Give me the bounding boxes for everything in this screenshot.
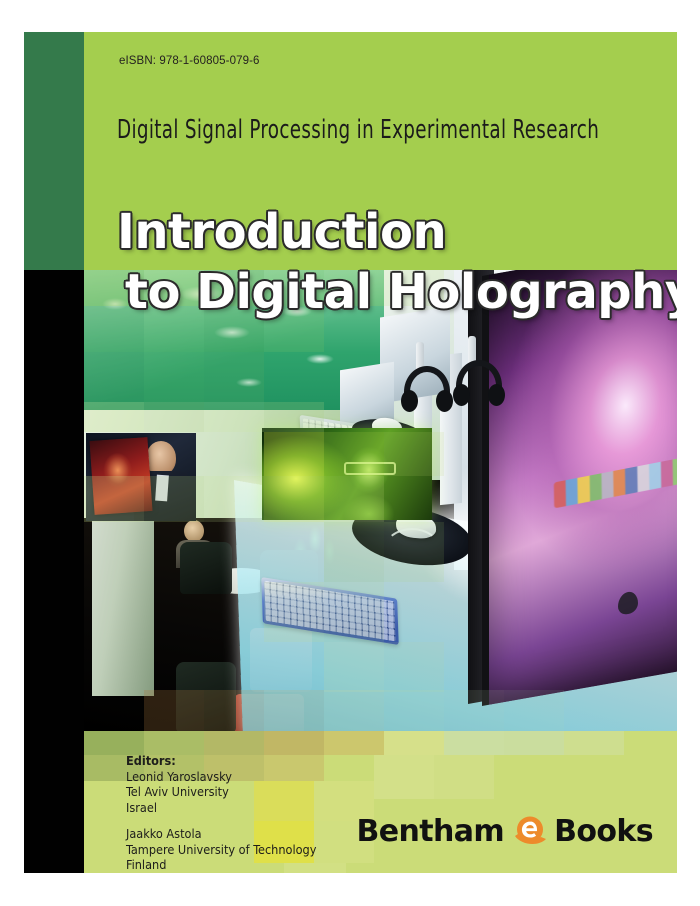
pillar: [92, 506, 154, 696]
left-black-column: [24, 270, 84, 873]
editor-1-name: Leonid Yaroslavsky: [126, 769, 316, 785]
editor-1-affiliation: Tel Aviv University: [126, 784, 316, 800]
header-dark-green-strip: [24, 32, 84, 270]
editor-2-country: Finland: [126, 857, 316, 873]
editor-2-name: Jaakko Astola: [126, 826, 316, 842]
green-hologram-panel: [262, 428, 432, 520]
chair: [180, 542, 232, 594]
ceiling-light-icon: [214, 326, 250, 339]
man-shirt: [155, 475, 169, 502]
headphone-cup: [453, 384, 470, 406]
chair: [176, 662, 236, 731]
hologram-face: [332, 444, 406, 520]
headphone-cup: [488, 384, 505, 406]
series-title: Digital Signal Processing in Experimenta…: [117, 115, 599, 145]
ceiling-light-icon: [236, 378, 262, 387]
editors-block: Editors: Leonid Yaroslavsky Tel Aviv Uni…: [126, 753, 316, 873]
bottom-band: Editors: Leonid Yaroslavsky Tel Aviv Uni…: [84, 731, 677, 873]
hologram-photo-inset: [86, 433, 196, 521]
ebooks-e-icon: [511, 812, 549, 850]
headphone-cup: [401, 390, 418, 412]
eisbn-text: eISBN: 978-1-60805-079-6: [119, 55, 260, 67]
cover-photograph: [84, 270, 677, 731]
publisher-name-right: Books: [554, 814, 653, 849]
editors-label: Editors:: [126, 753, 316, 769]
person-head: [184, 520, 204, 542]
mouse-cord: [384, 528, 440, 570]
editor-2-affiliation: Tampere University of Technology: [126, 842, 316, 858]
ceiling-light-icon: [306, 354, 334, 364]
headphone-cup: [436, 390, 453, 412]
headphones: [456, 360, 502, 412]
title-line-2: to Digital Holography: [117, 262, 677, 322]
book-cover: eISBN: 978-1-60805-079-6 Digital Signal …: [24, 32, 677, 873]
title-line-1: Introduction: [117, 204, 446, 260]
headphones: [404, 366, 450, 418]
bentham-ebooks-logo: Bentham Books: [357, 812, 653, 850]
publisher-name-left: Bentham: [357, 814, 505, 849]
man-head: [146, 441, 176, 475]
editor-1-country: Israel: [126, 800, 316, 816]
page-title: Introduction to Digital Holography: [117, 202, 677, 322]
red-hologram-face: [96, 450, 139, 499]
hologram-glasses: [344, 462, 396, 475]
